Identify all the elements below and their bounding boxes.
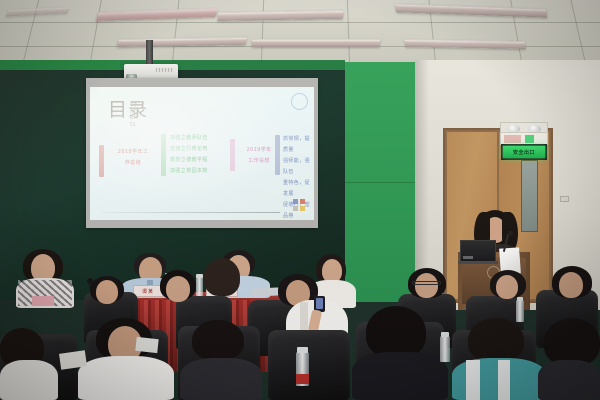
slide-footer-rule — [102, 212, 280, 213]
exit-sign: 安全出口 — [501, 144, 547, 160]
ceiling-grid-line — [0, 22, 600, 23]
laptop-keyboard-edge — [458, 261, 498, 264]
name-placard: 谭某 — [133, 285, 163, 297]
sign-sticker — [504, 135, 521, 143]
slide-marker-blue — [275, 135, 280, 175]
projector-mount-pole — [146, 40, 153, 66]
slide-logo-icon — [291, 93, 308, 110]
audience-hair — [544, 318, 600, 366]
audience-head — [496, 275, 518, 299]
laptop-brand-label — [463, 256, 473, 259]
audience-hair — [366, 306, 426, 358]
audience-torso — [352, 352, 448, 400]
slide-right-item: 强师能，强队伍 — [283, 156, 314, 178]
audience-head — [166, 276, 190, 302]
exit-sign-label: 安全出口 — [513, 149, 535, 156]
eyeglasses-icon — [412, 281, 441, 285]
slide-center-block: 2019学年 工作设想 — [238, 145, 280, 167]
phone-screen — [316, 298, 323, 309]
audience-hair — [204, 258, 240, 296]
slide-marker-red — [99, 145, 104, 177]
audience-head — [415, 273, 438, 298]
exit-sign-face: 安全出口 — [503, 146, 545, 158]
slide-heading-romanized: co nt en ts — [130, 102, 142, 128]
slide-right-item: 促德行，塑品格 — [283, 200, 314, 220]
slide-right-item: 重特色，促发展 — [283, 178, 314, 200]
slide-left-block: 2018学年工 作总结 — [107, 147, 159, 169]
shirt-stripe — [498, 360, 510, 400]
audience-torso — [180, 358, 262, 400]
slide-contents: 目录 co nt en ts 2018学年工 作总结 加强立教师队伍 交流立行育… — [90, 87, 314, 220]
bottle-cap — [441, 332, 449, 337]
bottle-cap — [297, 347, 308, 353]
audience-torso — [78, 356, 174, 400]
attendee-badge — [32, 296, 54, 306]
slide-marker-green — [161, 134, 166, 176]
projection-screen: 目录 co nt en ts 2018学年工 作总结 加强立教师队伍 交流立行育… — [90, 87, 314, 220]
slide-decor-square — [300, 199, 305, 204]
slide-right-item: 抓常规，提质量 — [283, 134, 314, 156]
projector-vent — [156, 68, 174, 72]
audience-hair — [192, 320, 244, 360]
bottle-cap — [517, 297, 523, 301]
slide-right-column: 抓常规，提质量 强师能，强队伍 重特色，促发展 促德行，塑品格 — [283, 134, 314, 220]
slide-center-line1: 2019学年 — [238, 145, 280, 156]
sign-indicator — [525, 135, 534, 143]
document-on-seat — [135, 337, 158, 353]
green-wall-trim — [0, 60, 120, 70]
water-bottle — [196, 277, 203, 297]
door-glass-panel — [521, 160, 538, 232]
name-placard-text: 谭某 — [142, 288, 154, 295]
conference-room-photo: 安全出口 目录 co nt en ts 2018学年工 作总结 — [0, 0, 600, 400]
slide-heading: 目录 — [108, 100, 148, 120]
slide-decor-square — [293, 199, 298, 204]
microphone-head-icon — [508, 231, 513, 236]
bottle-label — [296, 374, 309, 384]
slide-decor-square — [293, 206, 298, 211]
audience-torso — [538, 360, 600, 400]
contents-letter: ts — [130, 122, 142, 129]
slide-center-line2: 工作设想 — [238, 156, 280, 167]
audience-hair — [468, 318, 524, 362]
audience-chair — [268, 330, 350, 400]
ceiling-light-fixture — [252, 39, 380, 47]
panel-seam — [345, 182, 415, 183]
audience-head — [559, 272, 583, 298]
wall-outlet — [560, 196, 569, 202]
shirt-stripe — [466, 360, 480, 400]
audience-torso — [0, 360, 58, 400]
slide-left-line1: 2018学年工 — [107, 147, 159, 158]
slide-left-line2: 作总结 — [107, 158, 159, 169]
bottle-cap — [196, 274, 203, 278]
slide-marker-pink — [230, 139, 235, 171]
water-bottle — [516, 300, 524, 322]
slide-decor-square — [300, 206, 305, 211]
audience-head — [96, 280, 118, 304]
water-bottle — [440, 336, 450, 362]
